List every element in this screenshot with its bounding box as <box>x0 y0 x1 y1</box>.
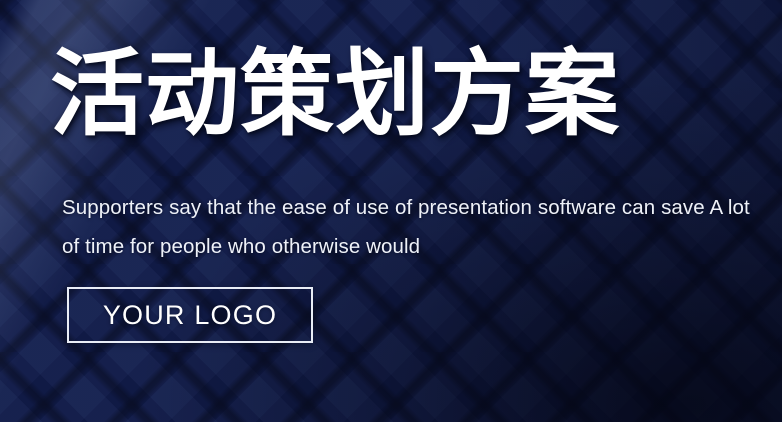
logo-placeholder-box[interactable]: YOUR LOGO <box>67 287 313 343</box>
slide-content: 活动策划方案 Supporters say that the ease of u… <box>0 0 782 422</box>
slide-subtitle: Supporters say that the ease of use of p… <box>62 188 762 266</box>
logo-placeholder-label: YOUR LOGO <box>103 300 277 331</box>
presentation-slide: 活动策划方案 Supporters say that the ease of u… <box>0 0 782 422</box>
slide-title: 活动策划方案 <box>50 47 620 141</box>
